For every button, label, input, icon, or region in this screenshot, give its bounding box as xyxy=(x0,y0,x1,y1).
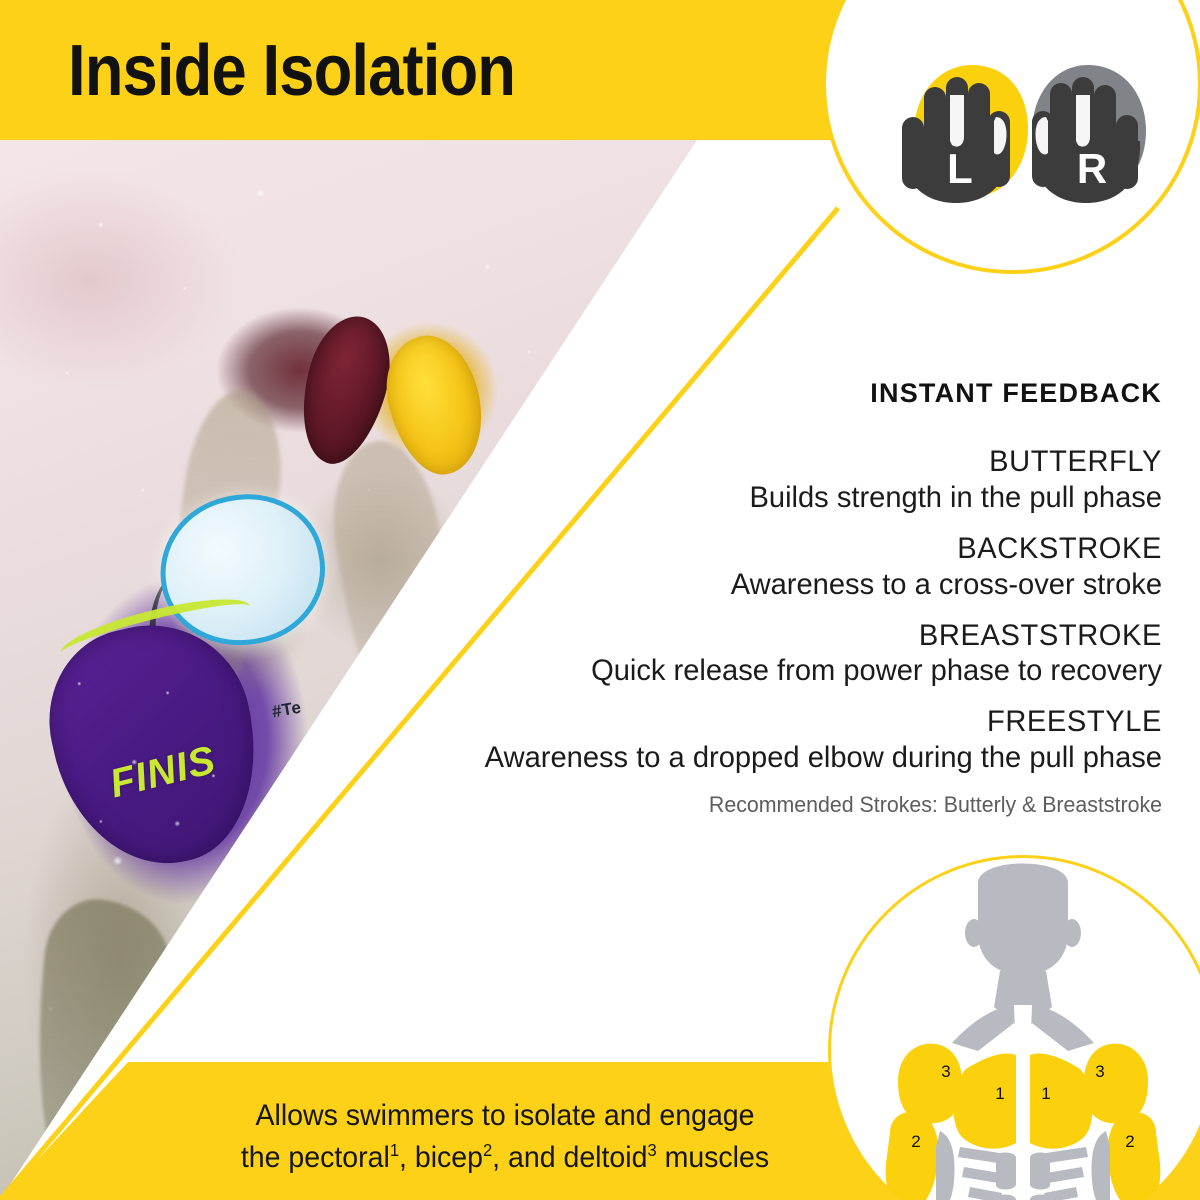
stroke-description: Awareness to a dropped elbow during the … xyxy=(386,740,1162,776)
stroke-entry-butterfly: BUTTERFLY Builds strength in the pull ph… xyxy=(362,445,1162,516)
right-trapezius xyxy=(1032,1005,1094,1051)
stroke-entry-backstroke: BACKSTROKE Awareness to a cross-over str… xyxy=(362,532,1162,603)
recommended-strokes-note: Recommended Strokes: Butterly & Breastst… xyxy=(386,792,1162,818)
stroke-name: BUTTERFLY xyxy=(386,445,1162,480)
right-pectoral xyxy=(1030,1054,1093,1149)
stroke-name: BREASTSTROKE xyxy=(386,619,1162,654)
left-hand-gap xyxy=(950,95,964,147)
page-title: Inside Isolation xyxy=(68,30,515,112)
footer-line-2: the pectoral1, bicep2, and deltoid3 musc… xyxy=(25,1137,985,1178)
left-ear xyxy=(965,919,983,947)
marker-bicep-right: 2 xyxy=(1125,1132,1134,1151)
stroke-name: FREESTYLE xyxy=(386,705,1162,740)
footer-sup-3: 3 xyxy=(647,1140,656,1160)
infographic-root: #Te FINIS Inside Isolation L xyxy=(0,0,1200,1200)
footer-line-1: Allows swimmers to isolate and engage xyxy=(25,1095,985,1136)
left-ab-1 xyxy=(996,1153,1016,1190)
paddle-icon-group: L R xyxy=(880,55,1160,225)
stroke-name: BACKSTROKE xyxy=(386,532,1162,567)
right-tricep xyxy=(1092,1131,1110,1200)
right-bicep xyxy=(1108,1112,1161,1200)
sternum-gap xyxy=(1014,1005,1032,1071)
right-ab-1 xyxy=(1030,1153,1050,1190)
left-trapezius xyxy=(952,1005,1014,1051)
marker-deltoid-left: 3 xyxy=(941,1062,950,1081)
right-hand-gap xyxy=(1076,95,1090,147)
marker-pectoral-right: 1 xyxy=(1041,1084,1050,1103)
marker-pectoral-left: 1 xyxy=(995,1084,1004,1103)
left-paddle-letter: L xyxy=(947,145,973,192)
footer-muscles-text: muscles xyxy=(657,1141,769,1174)
stroke-description: Builds strength in the pull phase xyxy=(386,480,1162,516)
right-paddle-letter: R xyxy=(1077,145,1107,192)
instant-feedback-panel: INSTANT FEEDBACK BUTTERFLY Builds streng… xyxy=(362,378,1162,818)
footer-bicep-text: , bicep xyxy=(399,1141,483,1174)
footer-caption: Allows swimmers to isolate and engage th… xyxy=(25,1095,985,1178)
head-silhouette xyxy=(978,864,1068,976)
right-serratus-2 xyxy=(1046,1167,1084,1183)
right-serratus-1 xyxy=(1046,1147,1088,1163)
marker-deltoid-right: 3 xyxy=(1095,1062,1104,1081)
stroke-entry-breaststroke: BREASTSTROKE Quick release from power ph… xyxy=(362,619,1162,690)
footer-sup-2: 2 xyxy=(483,1140,492,1160)
stroke-entry-freestyle: FREESTYLE Awareness to a dropped elbow d… xyxy=(362,705,1162,776)
stroke-description: Quick release from power phase to recove… xyxy=(386,653,1162,689)
footer-pectoral-text: the pectoral xyxy=(241,1141,390,1174)
instant-feedback-heading: INSTANT FEEDBACK xyxy=(362,378,1162,409)
right-ear xyxy=(1063,919,1081,947)
right-deltoid xyxy=(1084,1044,1148,1124)
stroke-description: Awareness to a cross-over stroke xyxy=(386,567,1162,603)
footer-deltoid-text: , and deltoid xyxy=(492,1141,647,1174)
